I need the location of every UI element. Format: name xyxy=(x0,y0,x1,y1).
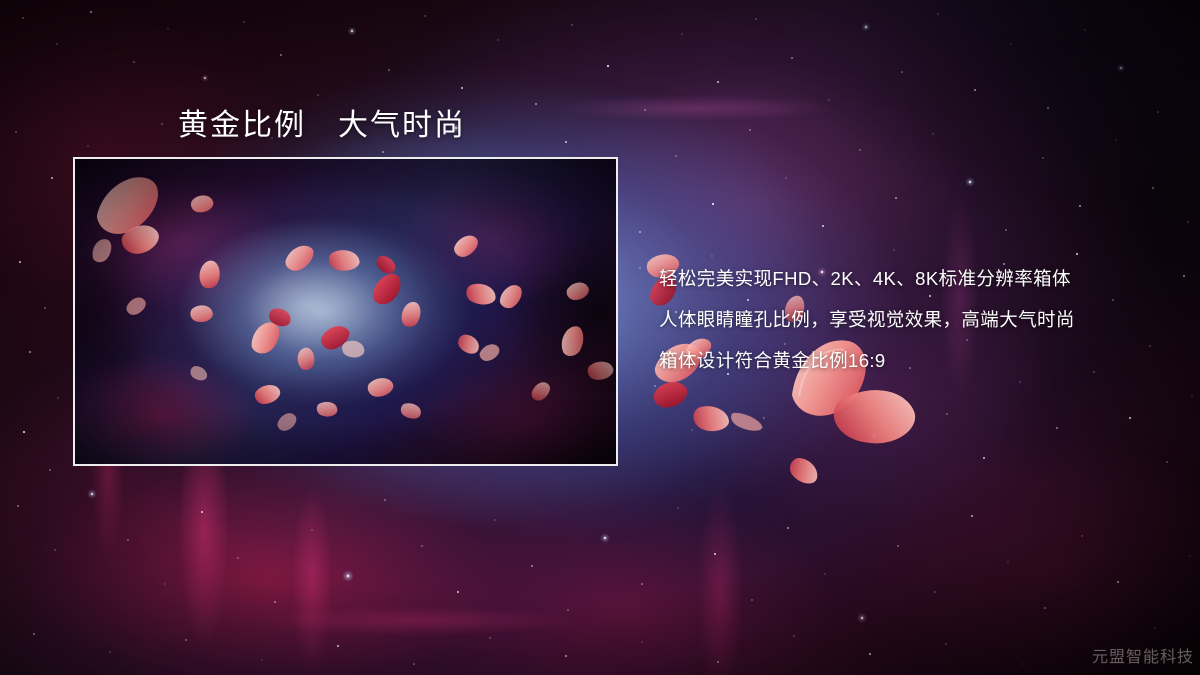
framed-image-nebula xyxy=(75,159,616,464)
company-watermark: 元盟智能科技 xyxy=(1092,643,1194,667)
framed-product-image[interactable] xyxy=(73,157,618,466)
body-line-2: 人体眼睛瞳孔比例，享受视觉效果，高端大气时尚 xyxy=(659,299,1179,340)
body-line-3: 箱体设计符合黄金比例16:9 xyxy=(659,340,1179,381)
slide-title: 黄金比例 大气时尚 xyxy=(178,100,466,144)
body-line-1: 轻松完美实现FHD、2K、4K、8K标准分辨率箱体 xyxy=(659,258,1179,299)
slide-body-text: 轻松完美实现FHD、2K、4K、8K标准分辨率箱体 人体眼睛瞳孔比例，享受视觉效… xyxy=(659,258,1179,381)
presentation-slide: 黄金比例 大气时尚 轻松完美实现FHD、2K、4K、8K标准分辨率箱体 人体眼睛… xyxy=(0,0,1200,675)
